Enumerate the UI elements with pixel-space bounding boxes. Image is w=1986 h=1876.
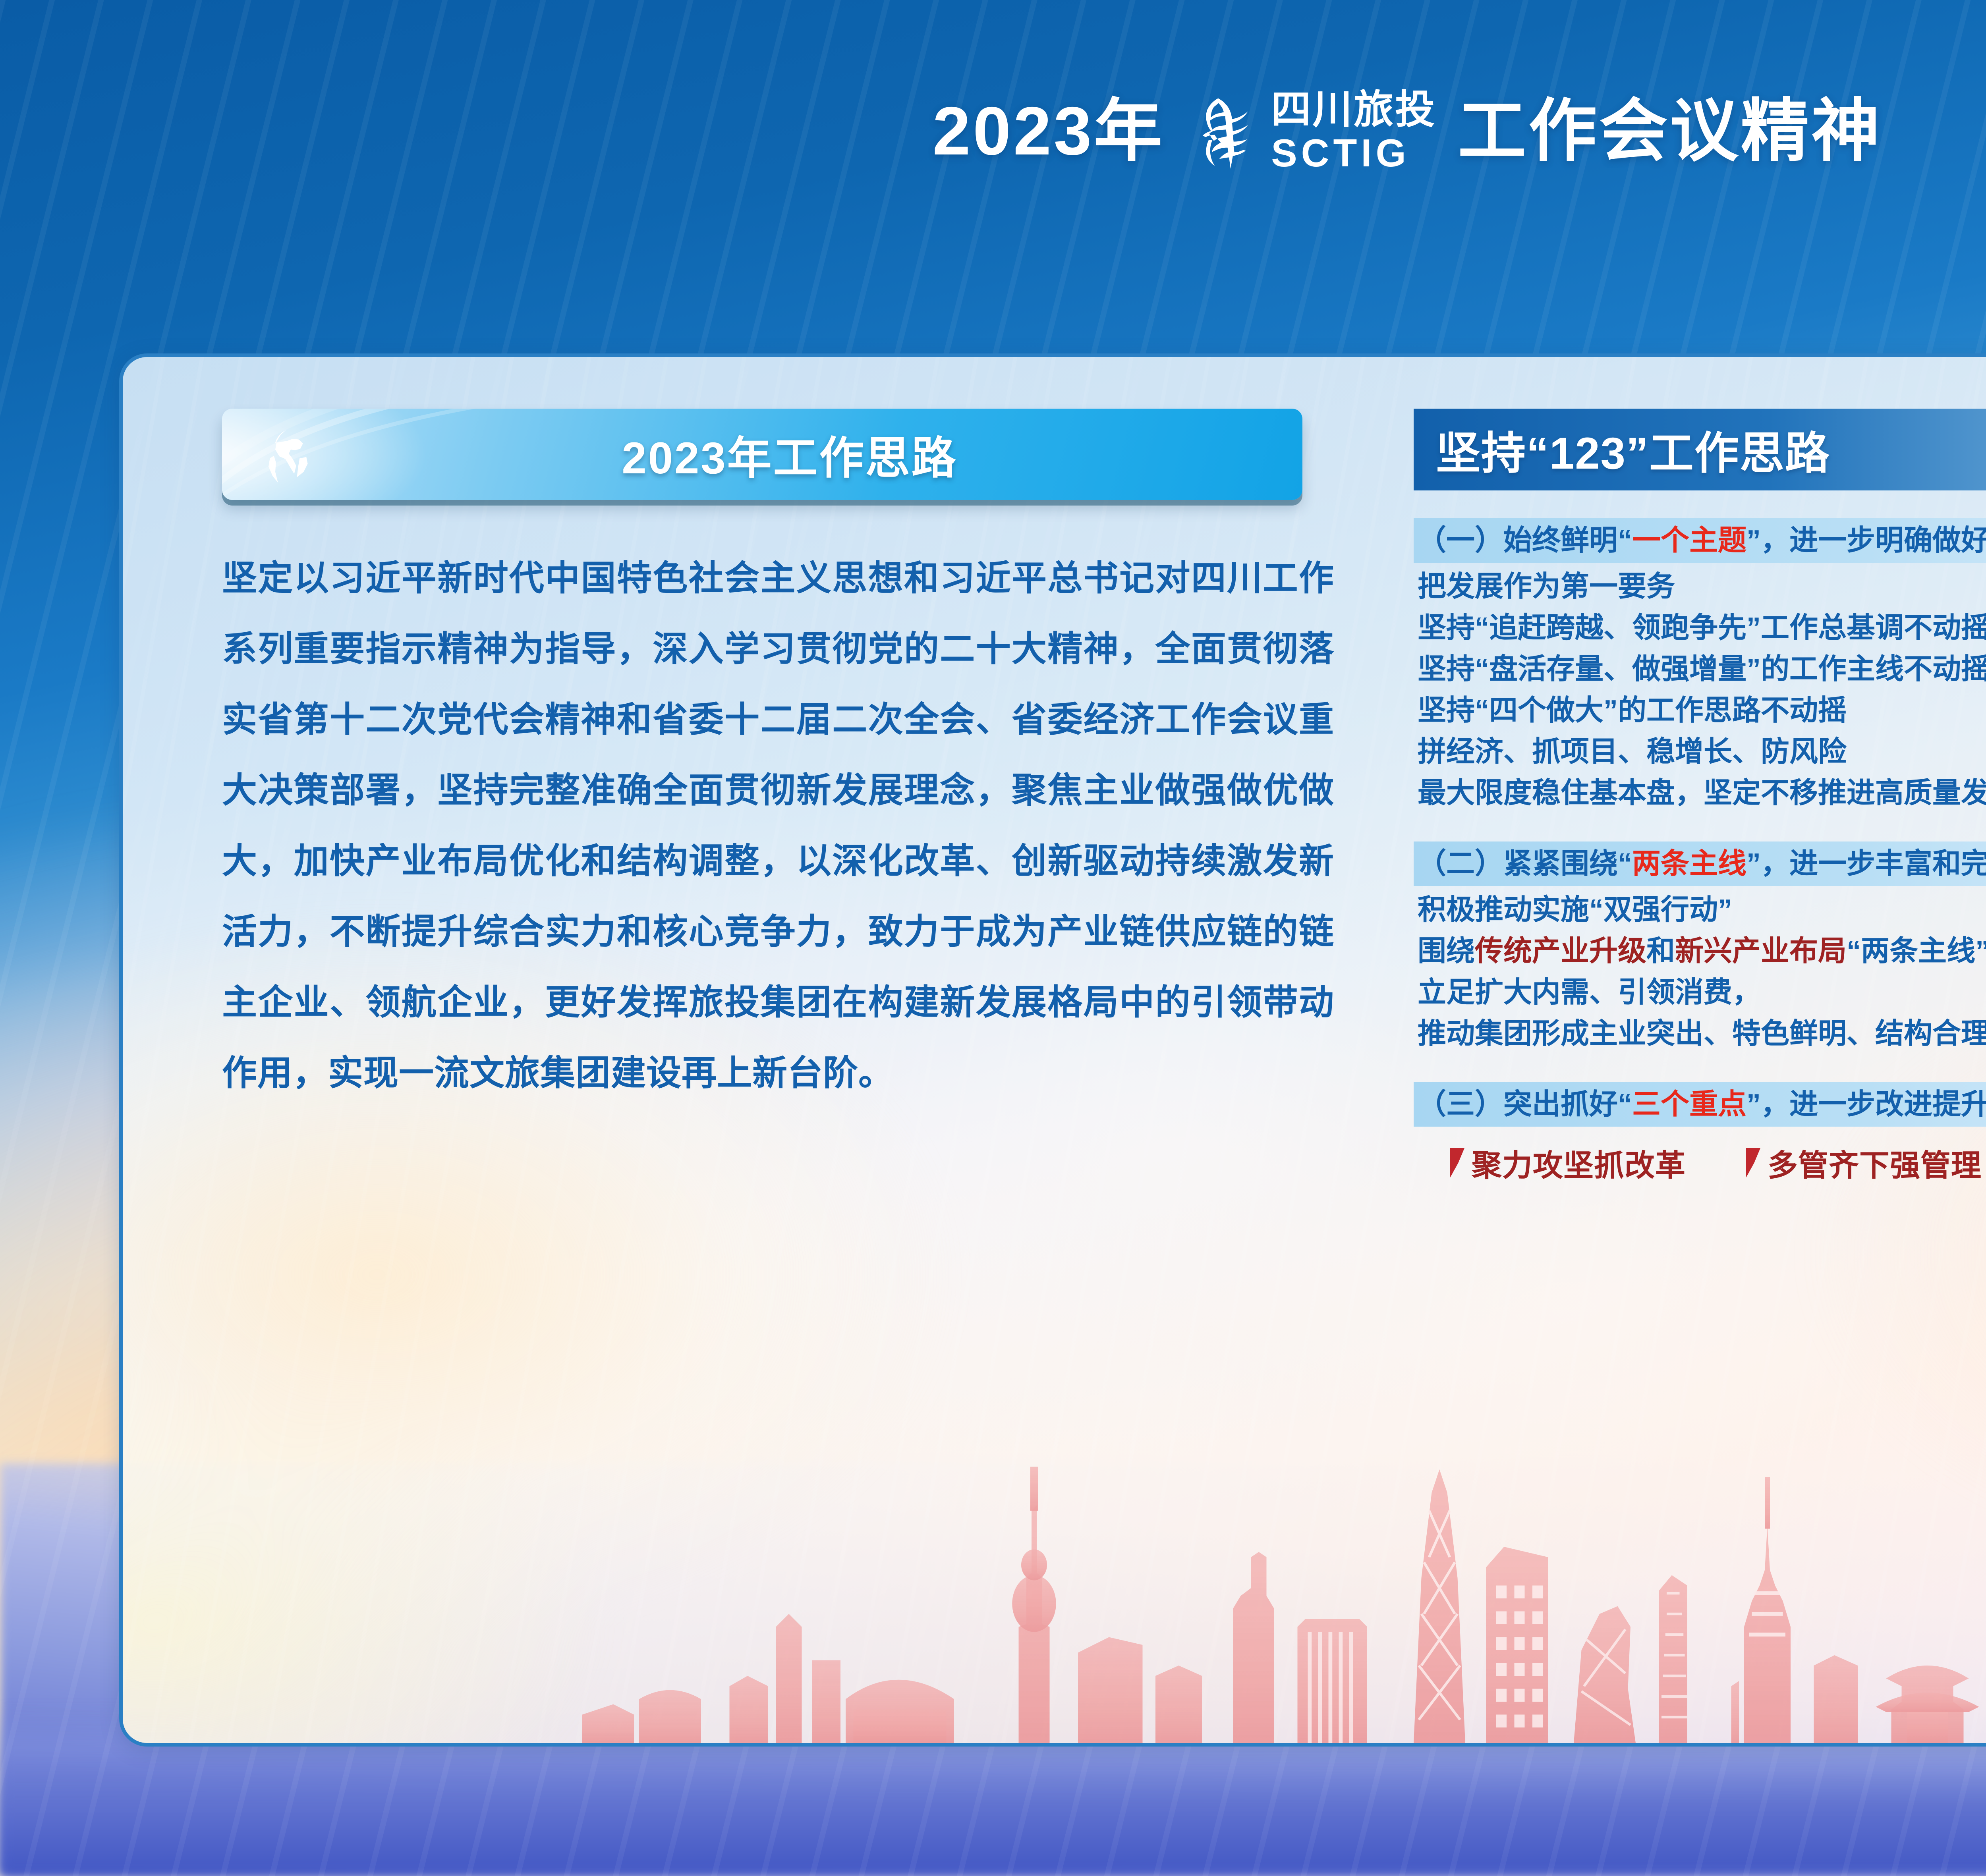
section-two-line-2: 围绕传统产业升级和新兴产业布局“两条主线” [1414,930,1986,972]
brand-name-en: SCTIG [1271,133,1436,172]
key-point-1: 聚力攻坚抓改革 [1449,1141,1686,1185]
line-text: 立足扩大内需、引领消费， [1418,977,1761,1008]
red-flag-icon [1449,1148,1465,1177]
section-three-heading-prefix: （三）突出抓好“ [1418,1089,1632,1120]
section-one-line-4: 坚持“四个做大”的工作思路不动摇 [1414,690,1986,731]
line-text: 和 [1646,935,1675,967]
header-year: 2023年 [933,97,1165,165]
section-one-heading: （一）始终鲜明“一个主题”，进一步明确做好全年工作的总体要求 [1414,518,1986,563]
section-three-heading-highlight: 三个重点 [1632,1089,1746,1120]
section-two-heading-suffix: ”，进一步丰富和完善集团高质量发展的产业格局 [1746,848,1986,880]
section-one-heading-highlight: 一个主题 [1632,525,1746,556]
section-one-line-2: 坚持“追赶跨越、领跑争先”工作总基调不动摇 [1414,607,1986,648]
red-flag-icon [1745,1148,1761,1177]
key-point-1-label: 聚力攻坚抓改革 [1472,1141,1686,1185]
section-two-line-4: 推动集团形成主业突出、特色鲜明、结构合理、发展协同的产业格局。 [1414,1013,1986,1054]
line-text: 拼经济、抓项目、稳增长、防风险 [1418,736,1847,768]
brand-logo: 四川旅投 SCTIG [1186,90,1436,172]
section-one-line-5: 拼经济、抓项目、稳增长、防风险 [1414,731,1986,772]
line-text: 坚持“盘活存量、做强增量”的工作主线不动摇 [1418,653,1986,685]
brand-name-cn: 四川旅投 [1271,90,1436,129]
line-text: 坚持“四个做大”的工作思路不动摇 [1418,695,1847,726]
line-text: 最大限度稳住基本盘，坚定不移推进高质量发展。 [1418,777,1986,809]
section-one-line-3: 坚持“盘活存量、做强增量”的工作主线不动摇 [1414,648,1986,690]
line-text: 推动集团形成主业突出、特色鲜明、结构合理、发展协同的产业格局。 [1418,1018,1986,1050]
key-point-2: 多管齐下强管理 [1745,1141,1982,1185]
section-one-heading-prefix: （一）始终鲜明“ [1418,525,1632,556]
line-text: 把发展作为第一要务 [1418,571,1675,602]
left-banner: 2023年工作思路 [222,409,1302,500]
right-banner-title: 坚持“123”工作思路 [1436,417,1830,482]
line-text: “两条主线” [1847,935,1986,967]
globe-logo-icon [1186,93,1262,169]
line-text: 坚持“追赶跨越、领跑争先”工作总基调不动摇 [1418,612,1986,644]
section-one-line-1: 把发展作为第一要务 [1414,566,1986,607]
section-two-heading-highlight: 两条主线 [1632,848,1746,880]
section-two-line-1: 积极推动实施“双强行动” [1414,889,1986,930]
globe-icon [253,421,325,488]
line-text: 围绕 [1418,935,1475,967]
poster-header: 2023年 四川旅投 SCTIG 工作会议精神 [0,79,1986,183]
right-banner: 坚持“123”工作思路 [1414,409,1986,490]
section-two: （二）紧紧围绕“两条主线”，进一步丰富和完善集团高质量发展的产业格局 积极推动实… [1414,841,1986,1054]
left-banner-title: 2023年工作思路 [325,422,1302,486]
section-three: （三）突出抓好“三个重点”，进一步改进提升公司治理体系和治理效能 聚力攻坚抓改革… [1414,1082,1986,1185]
line-text: 积极推动实施“双强行动” [1418,894,1732,926]
line-text-emphasis: 新兴产业布局 [1675,935,1847,967]
left-column: 2023年工作思路 坚定以习近平新时代中国特色社会主义思想和习近平总书记对四川工… [123,357,1390,1743]
left-paragraph-block: 坚定以习近平新时代中国特色社会主义思想和习近平总书记对四川工作系列重要指示精神为… [222,543,1334,1108]
right-column: 坚持“123”工作思路 （一）始终鲜明“一个主题”，进一步明确做好全年工作的总体… [1390,357,1986,1743]
section-two-heading: （二）紧紧围绕“两条主线”，进一步丰富和完善集团高质量发展的产业格局 [1414,841,1986,886]
section-three-heading: （三）突出抓好“三个重点”，进一步改进提升公司治理体系和治理效能 [1414,1082,1986,1127]
section-one-heading-suffix: ”，进一步明确做好全年工作的总体要求 [1746,525,1986,556]
section-two-heading-prefix: （二）紧紧围绕“ [1418,848,1632,880]
key-point-2-label: 多管齐下强管理 [1768,1141,1982,1185]
section-three-heading-suffix: ”，进一步改进提升公司治理体系和治理效能 [1746,1089,1986,1120]
content-card: 2023年工作思路 坚定以习近平新时代中国特色社会主义思想和习近平总书记对四川工… [119,353,1986,1747]
section-two-line-3: 立足扩大内需、引领消费， [1414,972,1986,1013]
key-points-row: 聚力攻坚抓改革 多管齐下强管理 压实责任保安全 [1414,1141,1986,1185]
line-text-emphasis: 传统产业升级 [1475,935,1646,967]
header-title: 工作会议精神 [1458,97,1882,165]
left-paragraph-text: 坚定以习近平新时代中国特色社会主义思想和习近平总书记对四川工作系列重要指示精神为… [222,543,1334,1108]
section-one-line-6: 最大限度稳住基本盘，坚定不移推进高质量发展。 [1414,772,1986,814]
section-one: （一）始终鲜明“一个主题”，进一步明确做好全年工作的总体要求 把发展作为第一要务… [1414,518,1986,814]
